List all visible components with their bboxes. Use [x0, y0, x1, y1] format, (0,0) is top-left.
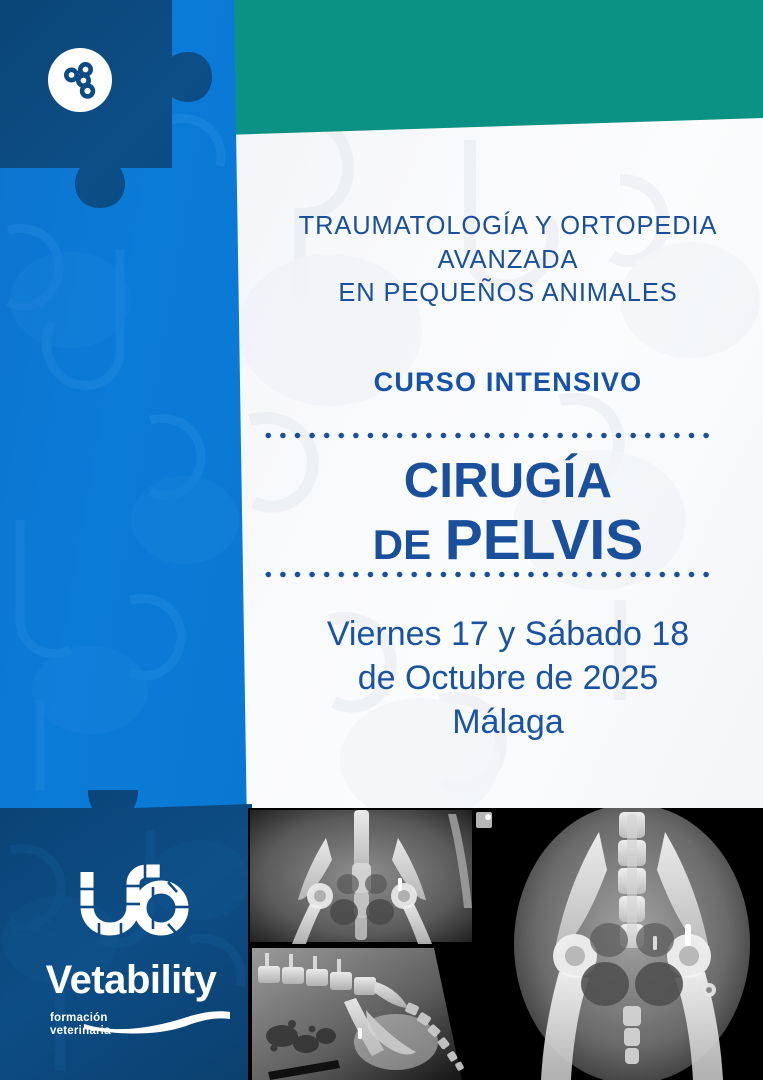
vetability-monogram-icon: [65, 862, 197, 958]
event-location: Málaga: [253, 700, 763, 744]
radiograph-gallery: [248, 808, 763, 1080]
vetability-logo: Vetability formación veterinaria: [26, 862, 236, 1000]
xray-pelvis-ap: [248, 808, 501, 944]
subtitle-line-1: TRAUMATOLOGÍA Y ORTOPEDIA: [253, 210, 763, 244]
title-line-2-prefix: DE: [373, 521, 431, 568]
course-title: CIRUGÍA DE PELVIS: [253, 455, 763, 571]
subtitle-line-3: EN PEQUEÑOS ANIMALES: [253, 277, 763, 311]
molecule-paw-icon: [58, 58, 102, 102]
course-subtitle: TRAUMATOLOGÍA Y ORTOPEDIA AVANZADA EN PE…: [253, 210, 763, 311]
logo-tagline-line-1: formación: [50, 1012, 108, 1024]
title-line-2: DE PELVIS: [253, 510, 763, 571]
event-poster: TRAUMATOLOGÍA Y ORTOPEDIA AVANZADA EN PE…: [0, 0, 763, 1080]
subtitle-line-2: AVANZADA: [253, 244, 763, 278]
divider-bottom: [261, 571, 716, 578]
xray-pelvis-hips-ap: [501, 808, 763, 1080]
logo-tagline: formación veterinaria: [50, 1012, 111, 1038]
event-date-line-2: de Octubre de 2025: [253, 656, 763, 700]
xray-spine-pelvis-lateral: [248, 944, 501, 1080]
logo-tagline-line-2: veterinaria: [50, 1025, 111, 1037]
event-details: Viernes 17 y Sábado 18 de Octubre de 202…: [253, 612, 763, 745]
course-kicker: CURSO INTENSIVO: [253, 367, 763, 398]
title-line-1: CIRUGÍA: [253, 455, 763, 507]
title-line-2-main: PELVIS: [445, 508, 644, 572]
poster-content: TRAUMATOLOGÍA Y ORTOPEDIA AVANZADA EN PE…: [253, 0, 763, 805]
dotted-rule: [261, 571, 716, 578]
brand-badge: [48, 48, 112, 112]
divider-top: [261, 432, 716, 439]
logo-wordmark: Vetability: [26, 960, 236, 1000]
dotted-rule: [261, 432, 716, 439]
radiograph-column-left: [248, 808, 501, 1080]
event-date-line-1: Viernes 17 y Sábado 18: [253, 612, 763, 656]
